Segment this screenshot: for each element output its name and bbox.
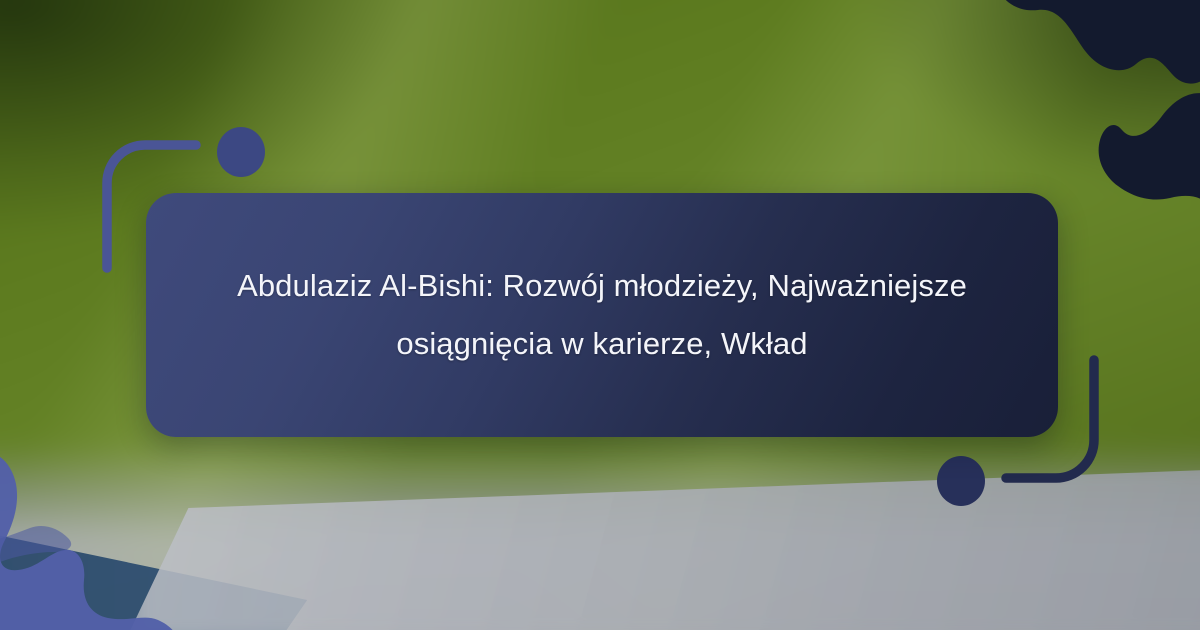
page-title: Abdulaziz Al-Bishi: Rozwój młodzieży, Na… [222, 257, 982, 373]
social-card-canvas: Abdulaziz Al-Bishi: Rozwój młodzieży, Na… [0, 0, 1200, 630]
title-card: Abdulaziz Al-Bishi: Rozwój młodzieży, Na… [146, 193, 1058, 437]
